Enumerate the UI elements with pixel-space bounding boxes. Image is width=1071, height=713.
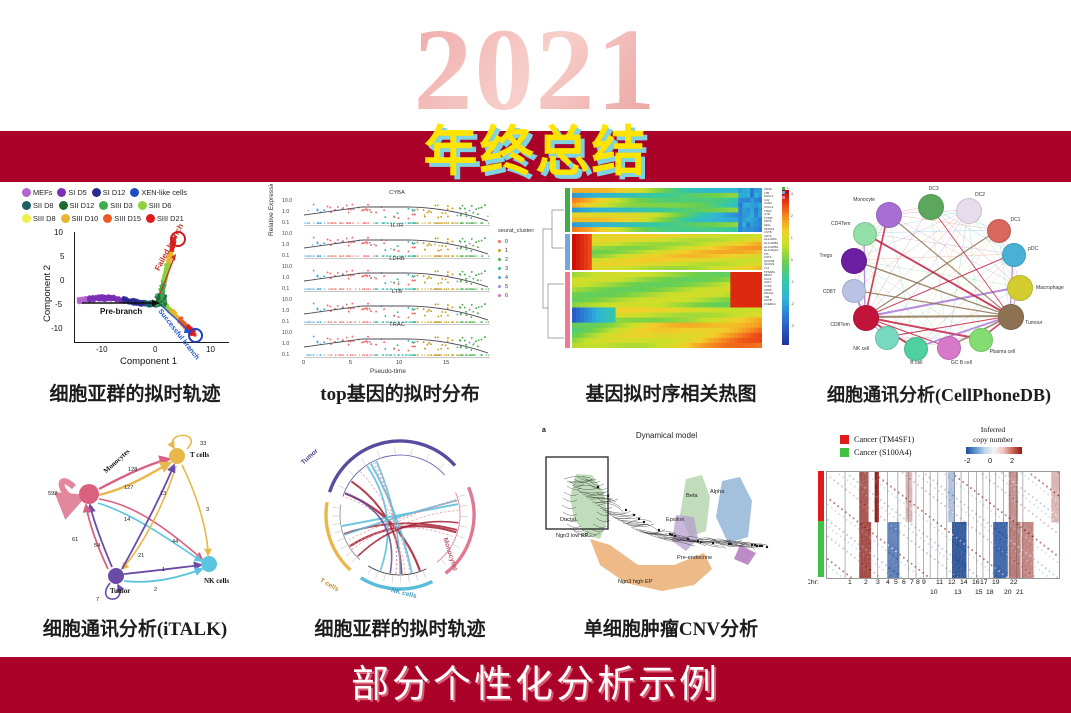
bottom-banner: 部分个性化分析示例 xyxy=(0,657,1071,713)
chr-axis-label: Chr: xyxy=(808,579,819,586)
panel-cnv-plot: Cancer (TM4SF1) Cancer (S100A4) Inferred… xyxy=(808,419,1070,615)
heatmap-cells xyxy=(572,272,762,348)
legend-label: 1 xyxy=(505,248,508,254)
colorbar-tick: -3 xyxy=(791,324,794,328)
italk-node-label: T cells xyxy=(190,451,209,459)
pseudotime-facet: TRAC10.01.00.1 xyxy=(304,330,490,363)
legend-row: Cancer (TM4SF1) xyxy=(840,433,914,446)
facet-plot xyxy=(304,330,490,358)
figure-row-2: MonocytesT cellsNK cellsTumor 3312812713… xyxy=(0,419,1071,654)
y-tick-label: 1.0 xyxy=(282,275,289,281)
legend-swatch xyxy=(782,196,785,199)
italk-node-monocytes[interactable] xyxy=(79,484,99,504)
caption-pseudotime: top基因的拟时分布 xyxy=(266,380,534,414)
legend-swatch xyxy=(782,187,785,190)
legend-label: 0 xyxy=(505,239,508,245)
y-tick-label: 10.0 xyxy=(282,264,292,270)
facet-gene-label: LDHB xyxy=(304,256,490,262)
y-tick-label: 0.1 xyxy=(282,319,289,325)
annotation-pre-branch: Pre-branch xyxy=(100,307,142,316)
legend-swatch xyxy=(498,276,501,279)
heatmap-colorbar xyxy=(782,190,789,345)
figure-cell-cnv[interactable]: Cancer (TM4SF1) Cancer (S100A4) Inferred… xyxy=(808,419,1070,654)
cnv-side-annotation-red xyxy=(818,471,824,521)
italk-node-tumor[interactable] xyxy=(108,568,124,584)
italk-edge-label: 7 xyxy=(96,597,99,603)
cellphonedb-node-dc2[interactable] xyxy=(956,198,982,224)
legend-swatch-tm4sf1 xyxy=(840,435,849,444)
cluster-legend-item: 1 xyxy=(782,186,789,190)
figure-grid: MEFs SI D5 SI D12 XEN-like cells SII D8 … xyxy=(0,184,1071,654)
legend-label: 2 xyxy=(787,191,789,195)
legend-title: seurat_clusters xyxy=(498,228,534,234)
legend-label: 3 xyxy=(505,266,508,272)
cellphonedb-node-cd4tem[interactable] xyxy=(853,222,877,246)
y-tick-label: 1.0 xyxy=(282,308,289,314)
legend-item: SII D8 xyxy=(22,201,54,210)
y-axis-title: Relative Expression xyxy=(268,184,275,236)
cellphonedb-node-macrophage[interactable] xyxy=(1007,275,1033,301)
y-tick-label: 1.0 xyxy=(282,341,289,347)
cellphonedb-node-label: DC2 xyxy=(975,192,985,198)
y-tick-label: 10.0 xyxy=(282,198,292,204)
legend-label: 3 xyxy=(787,195,789,199)
cellphonedb-node-nk-cell[interactable] xyxy=(875,326,899,350)
velocity-label-epsilon: Epsilon xyxy=(666,517,684,523)
italk-graph xyxy=(4,419,266,615)
legend-swatch xyxy=(498,249,501,252)
cellphonedb-node-label: Plasma cell xyxy=(990,349,1016,355)
x-axis-title: Pseudo-time xyxy=(370,368,406,375)
legend-item: MEFs xyxy=(22,188,52,197)
legend-swatch xyxy=(61,214,70,223)
legend-swatch xyxy=(498,240,501,243)
heatmap-row-label: FCER1G xyxy=(764,303,794,307)
cluster-legend: 123 xyxy=(782,186,789,200)
velocity-label-ngn3high: Ngn3 high EP xyxy=(618,579,653,585)
colorbar-tick: 0 xyxy=(988,456,992,465)
legend-swatch xyxy=(782,191,785,194)
legend-label: 1 xyxy=(787,186,789,190)
italk-edge-label: 54 xyxy=(94,543,100,549)
cluster-annotation-2 xyxy=(565,234,570,270)
cnv-legend: Cancer (TM4SF1) Cancer (S100A4) xyxy=(840,433,914,459)
panel-italk-plot: MonocytesT cellsNK cellsTumor 3312812713… xyxy=(4,419,266,615)
chr-label: 10 xyxy=(930,589,938,596)
panel-velocity-plot: a Dynamical model Ductal Ngn3 low EP Ngn… xyxy=(534,419,808,615)
italk-edge-label: 14 xyxy=(124,517,130,523)
facet-plot xyxy=(304,231,490,259)
legend-label: 2 xyxy=(505,257,508,263)
facet-plot xyxy=(304,297,490,325)
figure-cell-heatmap[interactable]: CD3DLTBKLRC1IL32CCR6CXCL2TRACIL7RTXNIPKR… xyxy=(534,184,808,419)
cnv-colorbar xyxy=(966,447,1022,454)
highlight-circle-failed xyxy=(170,231,186,247)
cnv-heatmap xyxy=(826,471,1060,579)
legend-swatch xyxy=(146,214,155,223)
panel-chord-plot: Tumor Monocytes NK cells T cells xyxy=(266,419,534,615)
cellphonedb-node-dc1[interactable] xyxy=(987,219,1011,243)
legend-label: 4 xyxy=(505,275,508,281)
trajectory-scatter xyxy=(56,230,234,355)
chr-label: 15 xyxy=(975,589,983,596)
figure-cell-trajectory[interactable]: MEFs SI D5 SI D12 XEN-like cells SII D8 … xyxy=(4,184,266,419)
heatmap-cells xyxy=(572,234,762,270)
cluster-annotation-1 xyxy=(565,188,570,232)
colorbar-tick: 2 xyxy=(1010,456,1014,465)
top-banner-label: 年终总结 xyxy=(0,107,1071,186)
legend-swatch xyxy=(130,188,139,197)
legend-row: MEFs SI D5 SI D12 XEN-like cells xyxy=(22,186,258,199)
italk-edge-label: 1 xyxy=(162,567,165,573)
cellphonedb-node-label: NK cell xyxy=(853,346,869,352)
y-tick-label: 0.1 xyxy=(282,352,289,358)
figure-cell-velocity[interactable]: a Dynamical model Ductal Ngn3 low EP Ngn… xyxy=(534,419,808,654)
panel-trajectory-plot: MEFs SI D5 SI D12 XEN-like cells SII D8 … xyxy=(4,184,266,380)
legend-swatch xyxy=(498,267,501,270)
cellphonedb-node-monocyte[interactable] xyxy=(876,202,902,228)
legend-row: SIII D8 SIII D10 SIII D15 SIII D21 xyxy=(22,212,258,225)
legend-label: 6 xyxy=(505,293,508,299)
cellphonedb-node-label: pDC xyxy=(1028,246,1038,252)
figure-cell-chord[interactable]: Tumor Monocytes NK cells T cells 细胞亚群的拟时… xyxy=(266,419,534,654)
chr-label: 3 xyxy=(876,579,880,586)
caption-trajectory: 细胞亚群的拟时轨迹 xyxy=(4,380,266,414)
bottom-banner-label: 部分个性化分析示例 xyxy=(0,659,1071,711)
italk-edge-label: 592 xyxy=(48,491,57,497)
highlight-circle-successful xyxy=(188,328,203,343)
cellphonedb-network: DC3DC2DC1pDCMacrophageTumourPlasma cellG… xyxy=(808,184,1070,380)
chr-label: 17 xyxy=(980,579,988,586)
legend-item: SI D12 xyxy=(92,188,126,197)
chord-diagram xyxy=(266,419,534,615)
pseudotime-legend: seurat_clusters 0123456 xyxy=(498,228,534,300)
y-tick-label: 0.1 xyxy=(282,286,289,292)
figure-cell-italk[interactable]: MonocytesT cellsNK cellsTumor 3312812713… xyxy=(4,419,266,654)
heatmap-block-3 xyxy=(572,272,762,348)
legend-swatch xyxy=(498,294,501,297)
chr-label: 5 xyxy=(894,579,898,586)
velocity-label-preendocrine: Pre-endocrine xyxy=(677,555,712,561)
legend-label-s100a4: Cancer (S100A4) xyxy=(854,448,912,457)
cnv-side-annotation-green xyxy=(818,521,824,577)
panel-cellphonedb-plot: DC3DC2DC1pDCMacrophageTumourPlasma cellG… xyxy=(808,184,1070,380)
x-tick-label: 10 xyxy=(396,360,402,366)
heatmap-block-2 xyxy=(572,234,762,270)
caption-velocity: 单细胞肿瘤CNV分析 xyxy=(534,615,808,649)
colorbar-tick: -1 xyxy=(791,280,794,284)
legend-item: SIII D10 xyxy=(61,214,99,223)
chr-label: 18 xyxy=(986,589,994,596)
facet-gene-label: IL7R xyxy=(304,223,490,229)
legend-item: 1 xyxy=(498,246,534,255)
legend-swatch xyxy=(57,188,66,197)
chr-label: 20 xyxy=(1004,589,1012,596)
cellphonedb-node-label: CD4Tem xyxy=(831,221,850,227)
cluster-legend-item: 3 xyxy=(782,195,789,199)
legend-item: SIII D6 xyxy=(138,201,172,210)
facet-gene-label: LTB xyxy=(304,289,490,295)
legend-items: 0123456 xyxy=(498,237,534,300)
italk-edge-label: 61 xyxy=(72,537,78,543)
colorbar-tick: 3 xyxy=(791,192,793,196)
legend-item: SIII D8 xyxy=(22,214,56,223)
legend-row: SII D8 SII D12 SIII D3 SIII D6 xyxy=(22,199,258,212)
velocity-label-ngn3low: Ngn3 low EP xyxy=(556,533,588,539)
caption-heatmap: 基因拟时序相关热图 xyxy=(534,380,808,414)
chr-label: 2 xyxy=(864,579,868,586)
italk-node-label: NK cells xyxy=(204,577,229,585)
velocity-label-beta: Beta xyxy=(686,493,698,499)
cellphonedb-node-label: CD8T xyxy=(823,289,836,295)
caption-cellphonedb: 细胞通讯分析(CellPhoneDB) xyxy=(808,380,1070,414)
y-tick-label: 1.0 xyxy=(282,209,289,215)
legend-label-tm4sf1: Cancer (TM4SF1) xyxy=(854,435,914,444)
figure-cell-pseudotime[interactable]: Relative Expression CYBA10.01.00.1IL7R10… xyxy=(266,184,534,419)
heatmap-block-1 xyxy=(572,188,762,232)
x-tick-label: 15 xyxy=(443,360,449,366)
cellphonedb-node-dc3[interactable] xyxy=(918,194,944,220)
heatmap-row-labels: CD3DLTBKLRC1IL32CCR6CXCL2TRACIL7RTXNIPKR… xyxy=(764,188,794,307)
legend-label: 5 xyxy=(505,284,508,290)
italk-node-nk-cells[interactable] xyxy=(201,556,217,572)
legend-swatch xyxy=(138,201,147,210)
dendrogram xyxy=(538,188,564,348)
x-tick-label: 0 xyxy=(302,360,305,366)
facet-plot xyxy=(304,198,490,226)
cellphonedb-node-label: Macrophage xyxy=(1036,285,1064,291)
y-tick-label: 0.1 xyxy=(282,220,289,226)
chr-label: 9 xyxy=(922,579,926,586)
chr-label: 4 xyxy=(886,579,890,586)
chr-label: 1 xyxy=(848,579,852,586)
cellphonedb-node-b-cell[interactable] xyxy=(904,337,928,361)
cellphonedb-node-label: B cell xyxy=(910,360,922,366)
facet-gene-label: CYBA xyxy=(304,190,490,196)
italk-edge-label: 44 xyxy=(172,539,178,545)
legend-item: SII D12 xyxy=(59,201,95,210)
cellphonedb-node-tregs[interactable] xyxy=(841,248,867,274)
colorbar-title-line2: copy number xyxy=(948,435,1038,444)
legend-item: SIII D15 xyxy=(103,214,141,223)
velocity-label-alpha: Alpha xyxy=(710,489,724,495)
cnv-cells xyxy=(827,472,1059,578)
panel-pseudotime-plot: Relative Expression CYBA10.01.00.1IL7R10… xyxy=(266,184,534,380)
cellphonedb-node-pdc[interactable] xyxy=(1002,243,1026,267)
velocity-title: Dynamical model xyxy=(534,431,799,440)
cellphonedb-node-label: CD8Tem xyxy=(830,322,849,328)
colorbar-title-line1: Inferred xyxy=(948,425,1038,434)
chr-label: 8 xyxy=(916,579,920,586)
legend-swatch xyxy=(103,214,112,223)
y-tick-label: 10.0 xyxy=(282,297,292,303)
cluster-legend-item: 2 xyxy=(782,191,789,195)
trajectory-legend: MEFs SI D5 SI D12 XEN-like cells SII D8 … xyxy=(22,186,258,225)
chr-label: 12 xyxy=(948,579,956,586)
y-axis-title: Component 2 xyxy=(42,265,53,322)
cellphonedb-node-label: Monocyte xyxy=(853,197,875,203)
italk-edge-label: 13 xyxy=(160,491,166,497)
cellphonedb-node-tumour[interactable] xyxy=(998,304,1024,330)
cluster-annotation-3 xyxy=(565,272,570,348)
legend-swatch xyxy=(498,258,501,261)
italk-edge-label: 21 xyxy=(138,553,144,559)
italk-edge-label: 127 xyxy=(124,485,133,491)
top-banner: 年终总结 xyxy=(0,131,1071,182)
chr-label: 13 xyxy=(954,589,962,596)
legend-item: SIII D3 xyxy=(99,201,133,210)
chr-label: 6 xyxy=(902,579,906,586)
legend-item: XEN-like cells xyxy=(130,188,187,197)
legend-item: SI D5 xyxy=(57,188,86,197)
legend-swatch xyxy=(22,188,31,197)
colorbar-tick: 0 xyxy=(791,258,793,262)
colorbar-tick: 1 xyxy=(791,236,793,240)
chr-label: 7 xyxy=(910,579,914,586)
facet-plot xyxy=(304,264,490,292)
legend-item: 3 xyxy=(498,264,534,273)
legend-swatch xyxy=(22,201,31,210)
cellphonedb-node-label: DC1 xyxy=(1010,217,1020,223)
figure-row-1: MEFs SI D5 SI D12 XEN-like cells SII D8 … xyxy=(0,184,1071,419)
legend-swatch xyxy=(498,285,501,288)
italk-edge-label: 33 xyxy=(200,441,206,447)
heatmap-cells xyxy=(572,188,762,232)
legend-item: 4 xyxy=(498,273,534,282)
caption-italk: 细胞通讯分析(iTALK) xyxy=(4,615,266,649)
cellphonedb-node-gc-b-cell[interactable] xyxy=(937,336,961,360)
chr-label: 14 xyxy=(960,579,968,586)
italk-edge-label: 3 xyxy=(206,507,209,513)
cellphonedb-node-label: GC B cell xyxy=(951,360,972,366)
legend-swatch xyxy=(59,201,68,210)
chr-label: 16 xyxy=(972,579,980,586)
legend-swatch xyxy=(92,188,101,197)
caption-cnv xyxy=(808,615,1070,649)
y-tick-label: 1.0 xyxy=(282,242,289,248)
trajectory-axes: 10 5 0 -5 -10 -10 0 10 Component 1 Compo… xyxy=(56,230,234,350)
x-axis-title: Component 1 xyxy=(120,356,177,367)
velocity-label-ductal: Ductal xyxy=(560,517,576,523)
legend-row: Cancer (S100A4) xyxy=(840,446,914,459)
x-tick-label: 5 xyxy=(349,360,352,366)
chr-label: 21 xyxy=(1016,589,1024,596)
legend-swatch xyxy=(22,214,31,223)
legend-item: 6 xyxy=(498,291,534,300)
legend-item: 2 xyxy=(498,255,534,264)
colorbar-tick: -2 xyxy=(791,302,794,306)
colorbar-tick: -2 xyxy=(964,456,971,465)
legend-swatch xyxy=(99,201,108,210)
cellphonedb-node-label: DC3 xyxy=(929,186,939,192)
caption-chord: 细胞亚群的拟时轨迹 xyxy=(266,615,534,649)
chr-label: 19 xyxy=(992,579,1000,586)
legend-item: 5 xyxy=(498,282,534,291)
italk-edge-label: 2 xyxy=(154,587,157,593)
chr-label: 11 xyxy=(936,579,943,586)
panel-heatmap-plot: CD3DLTBKLRC1IL32CCR6CXCL2TRACIL7RTXNIPKR… xyxy=(534,184,808,380)
legend-swatch-s100a4 xyxy=(840,448,849,457)
cellphonedb-node-cd8t[interactable] xyxy=(842,279,866,303)
colorbar-tick: 2 xyxy=(791,214,793,218)
italk-node-t-cells[interactable] xyxy=(169,448,185,464)
y-tick-label: 10.0 xyxy=(282,231,292,237)
y-tick-label: 10.0 xyxy=(282,330,292,336)
y-tick-label: 0.1 xyxy=(282,253,289,259)
cellphonedb-node-cd8tem[interactable] xyxy=(853,305,879,331)
facet-gene-label: TRAC xyxy=(304,322,490,328)
figure-cell-cellphonedb[interactable]: DC3DC2DC1pDCMacrophageTumourPlasma cellG… xyxy=(808,184,1070,419)
italk-node-label: Tumor xyxy=(110,587,130,595)
legend-item: 0 xyxy=(498,237,534,246)
italk-edge-label: 128 xyxy=(128,467,137,473)
cellphonedb-node-label: Tumour xyxy=(1025,320,1042,326)
cellphonedb-node-label: Tregs xyxy=(819,253,832,259)
chr-label: 22 xyxy=(1010,579,1018,586)
